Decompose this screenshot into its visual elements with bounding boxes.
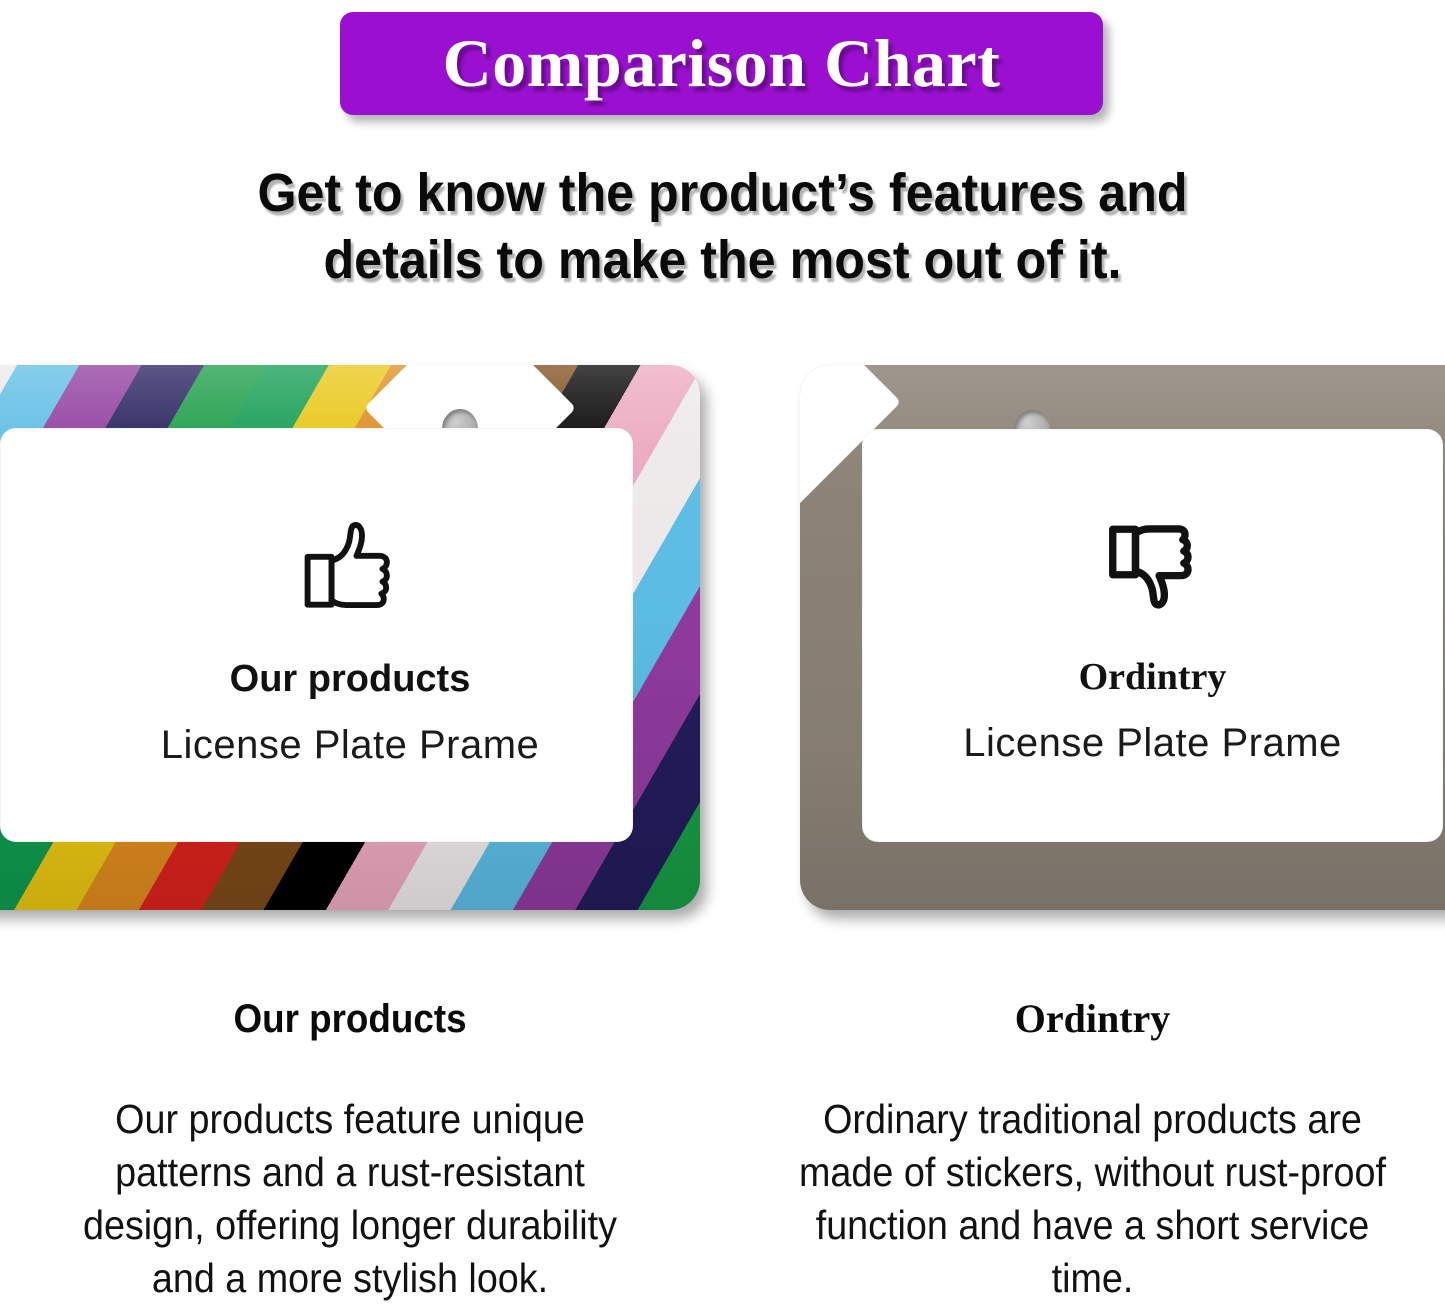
subtitle: Get to know the product’s features and d… (51, 160, 1395, 294)
page-title: Comparison Chart (443, 24, 1001, 103)
our-product-license-plate-frame: Our products License Plate Prame (0, 365, 700, 910)
right-column-description: Ordinary traditional products are made o… (768, 1093, 1417, 1305)
right-column-heading: Ordintry (740, 995, 1445, 1043)
comparison-chart-banner: Comparison Chart (340, 12, 1103, 115)
subtitle-line-1: Get to know the product’s features and (51, 160, 1395, 227)
plate-window (862, 429, 1443, 842)
left-comparison-column: Our products Our products feature unique… (0, 995, 700, 1305)
right-comparison-column: Ordintry Ordinary traditional products a… (740, 995, 1445, 1305)
subtitle-line-2: details to make the most out of it. (51, 227, 1395, 294)
plate-window (0, 428, 633, 842)
left-column-heading: Our products (28, 995, 672, 1043)
left-column-description: Our products feature unique patterns and… (28, 1093, 672, 1305)
ordinary-license-plate-frame: Ordintry License Plate Prame (800, 365, 1445, 910)
